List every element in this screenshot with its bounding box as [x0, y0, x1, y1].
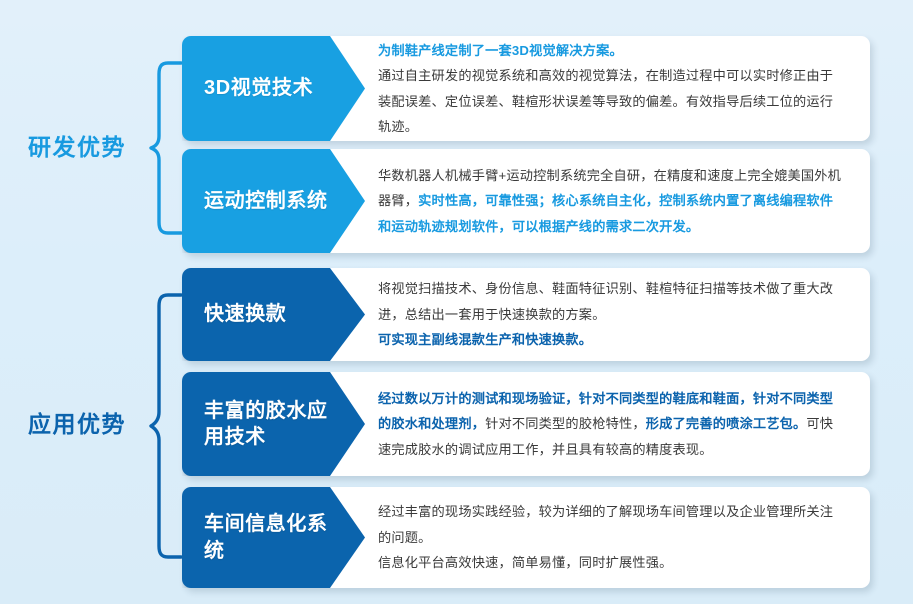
card-body: 经过数以万计的测试和现场验证，针对不同类型的鞋底和鞋面，针对不同类型的胶水和处理…: [330, 372, 870, 476]
highlight-text: 形成了完善的喷涂工艺包。: [646, 416, 807, 431]
brace-application-icon: [148, 290, 184, 562]
body-text-run: 经过丰富的现场实践经验，较为详细的了解现场车间管理以及企业管理所关注的问题。: [378, 504, 833, 544]
card-inner: 快速换款 将视觉扫描技术、身份信息、鞋面特征识别、鞋楦特征扫描等技术做了重大改进…: [182, 268, 870, 361]
card-paragraph: 将视觉扫描技术、身份信息、鞋面特征识别、鞋楦特征扫描等技术做了重大改进，总结出一…: [378, 276, 844, 327]
highlight-text: 实时性高，可靠性强；核心系统自主化，控制系统内置了离线编程软件和运动轨迹规划软件…: [378, 193, 833, 233]
card-3d-vision[interactable]: 3D视觉技术 为制鞋产线定制了一套3D视觉解决方案。 通过自主研发的视觉系统和高…: [182, 36, 870, 141]
card-paragraph: 经过数以万计的测试和现场验证，针对不同类型的鞋底和鞋面，针对不同类型的胶水和处理…: [378, 386, 844, 462]
card-paragraph: 信息化平台高效快速，简单易懂，同时扩展性强。: [378, 550, 844, 575]
card-paragraph: 华数机器人机械手臂+运动控制系统完全自研，在精度和速度上完全媲美国外机器臂，实时…: [378, 163, 844, 239]
body-text-run: 信息化平台高效快速，简单易懂，同时扩展性强。: [378, 555, 673, 570]
card-inner: 3D视觉技术 为制鞋产线定制了一套3D视觉解决方案。 通过自主研发的视觉系统和高…: [182, 36, 870, 141]
card-paragraph: 可实现主副线混款生产和快速换款。: [378, 327, 844, 352]
card-title: 运动控制系统: [182, 188, 328, 214]
card-title: 快速换款: [182, 301, 286, 327]
card-banner: 丰富的胶水应用技术: [182, 372, 330, 476]
body-text-run: 将视觉扫描技术、身份信息、鞋面特征识别、鞋楦特征扫描等技术做了重大改进，总结出一…: [378, 281, 833, 321]
card-banner: 运动控制系统: [182, 149, 330, 253]
brace-rd-icon: [148, 58, 184, 238]
card-inner: 丰富的胶水应用技术 经过数以万计的测试和现场验证，针对不同类型的鞋底和鞋面，针对…: [182, 372, 870, 476]
card-title: 车间信息化系统: [182, 511, 330, 564]
card-title: 丰富的胶水应用技术: [182, 398, 330, 451]
card-adhesive-technology[interactable]: 丰富的胶水应用技术 经过数以万计的测试和现场验证，针对不同类型的鞋底和鞋面，针对…: [182, 372, 870, 476]
card-banner: 3D视觉技术: [182, 36, 330, 141]
card-body: 为制鞋产线定制了一套3D视觉解决方案。 通过自主研发的视觉系统和高效的视觉算法，…: [330, 36, 870, 141]
card-body: 华数机器人机械手臂+运动控制系统完全自研，在精度和速度上完全媲美国外机器臂，实时…: [330, 149, 870, 253]
card-paragraph: 通过自主研发的视觉系统和高效的视觉算法，在制造过程中可以实时修正由于装配误差、定…: [378, 63, 844, 139]
card-inner: 车间信息化系统 经过丰富的现场实践经验，较为详细的了解现场车间管理以及企业管理所…: [182, 487, 870, 588]
body-text-run: 通过自主研发的视觉系统和高效的视觉算法，在制造过程中可以实时修正由于装配误差、定…: [378, 68, 833, 134]
card-paragraph: 为制鞋产线定制了一套3D视觉解决方案。: [378, 38, 844, 63]
card-title: 3D视觉技术: [182, 75, 313, 101]
card-banner: 车间信息化系统: [182, 487, 330, 588]
highlight-text: 可实现主副线混款生产和快速换款。: [378, 332, 592, 347]
highlight-text: 为制鞋产线定制了一套3D视觉解决方案。: [378, 43, 623, 58]
card-paragraph: 经过丰富的现场实践经验，较为详细的了解现场车间管理以及企业管理所关注的问题。: [378, 499, 844, 550]
group-label-application: 应用优势: [28, 413, 126, 436]
card-body: 将视觉扫描技术、身份信息、鞋面特征识别、鞋楦特征扫描等技术做了重大改进，总结出一…: [330, 268, 870, 361]
card-inner: 运动控制系统 华数机器人机械手臂+运动控制系统完全自研，在精度和速度上完全媲美国…: [182, 149, 870, 253]
card-workshop-informatization[interactable]: 车间信息化系统 经过丰富的现场实践经验，较为详细的了解现场车间管理以及企业管理所…: [182, 487, 870, 588]
infographic-canvas: 研发优势 应用优势 3D视觉技术 为制鞋产线定制了一套3D视觉解决方案。 通过自…: [0, 0, 913, 604]
card-body: 经过丰富的现场实践经验，较为详细的了解现场车间管理以及企业管理所关注的问题。 信…: [330, 487, 870, 588]
card-motion-control[interactable]: 运动控制系统 华数机器人机械手臂+运动控制系统完全自研，在精度和速度上完全媲美国…: [182, 149, 870, 253]
card-quick-changeover[interactable]: 快速换款 将视觉扫描技术、身份信息、鞋面特征识别、鞋楦特征扫描等技术做了重大改进…: [182, 268, 870, 361]
body-text-run: 针对不同类型的胶枪特性，: [485, 416, 646, 431]
card-banner: 快速换款: [182, 268, 330, 361]
group-label-rd: 研发优势: [28, 136, 126, 159]
